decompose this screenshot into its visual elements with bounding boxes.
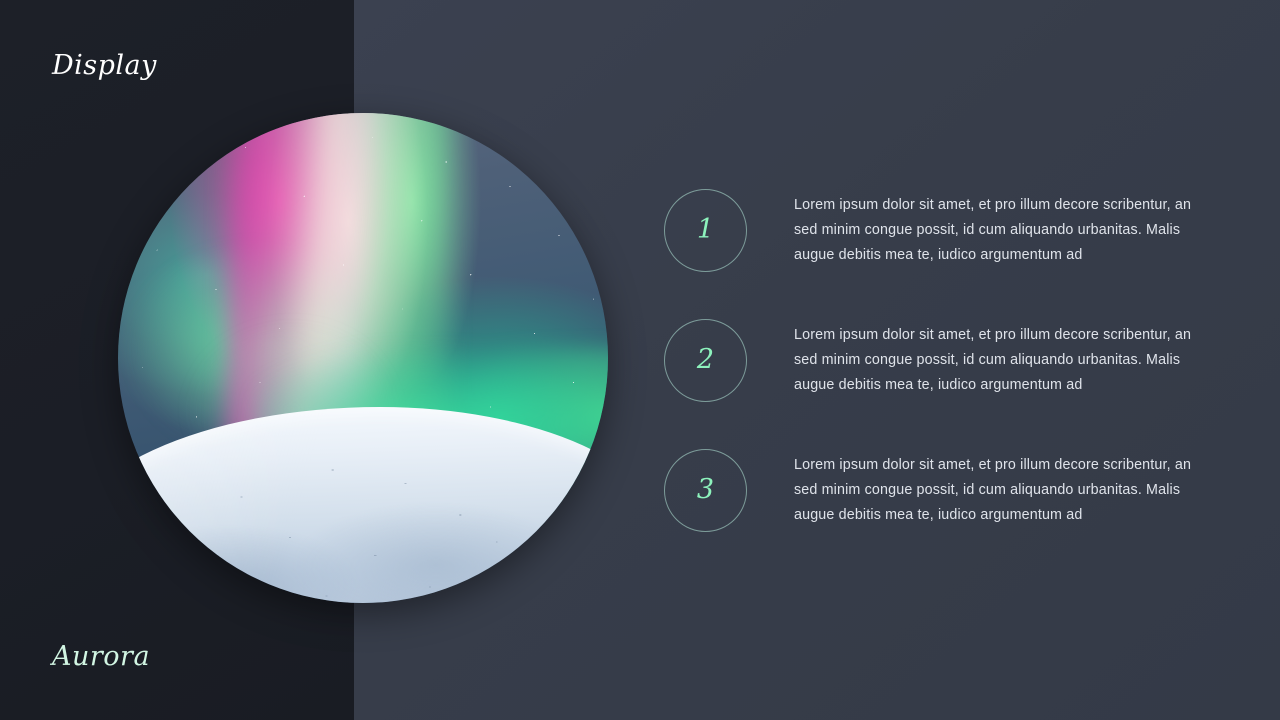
list-item-text: Lorem ipsum dolor sit amet, et pro illum… xyxy=(794,193,1194,268)
bullet-list: 1 Lorem ipsum dolor sit amet, et pro ill… xyxy=(664,188,1204,578)
number-badge-2[interactable]: 2 xyxy=(664,319,747,402)
list-item: 3 Lorem ipsum dolor sit amet, et pro ill… xyxy=(664,448,1204,578)
list-item: 1 Lorem ipsum dolor sit amet, et pro ill… xyxy=(664,188,1204,318)
list-item: 2 Lorem ipsum dolor sit amet, et pro ill… xyxy=(664,318,1204,448)
snow-hill-layer xyxy=(118,407,608,603)
number-badge-1[interactable]: 1 xyxy=(664,189,747,272)
number-badge-3[interactable]: 3 xyxy=(664,449,747,532)
snow-texture-layer xyxy=(118,407,608,603)
footer-label: Aurora xyxy=(52,641,150,672)
list-item-text: Lorem ipsum dolor sit amet, et pro illum… xyxy=(794,453,1194,528)
page-title: Display xyxy=(52,50,157,81)
number-badge-label: 1 xyxy=(697,216,714,245)
aurora-circle-image xyxy=(118,113,608,603)
number-badge-label: 3 xyxy=(697,476,714,505)
number-badge-label: 2 xyxy=(697,346,714,375)
list-item-text: Lorem ipsum dolor sit amet, et pro illum… xyxy=(794,323,1194,398)
presentation-slide: Display Aurora 1 Lorem ipsum dolor sit a… xyxy=(0,0,1280,720)
